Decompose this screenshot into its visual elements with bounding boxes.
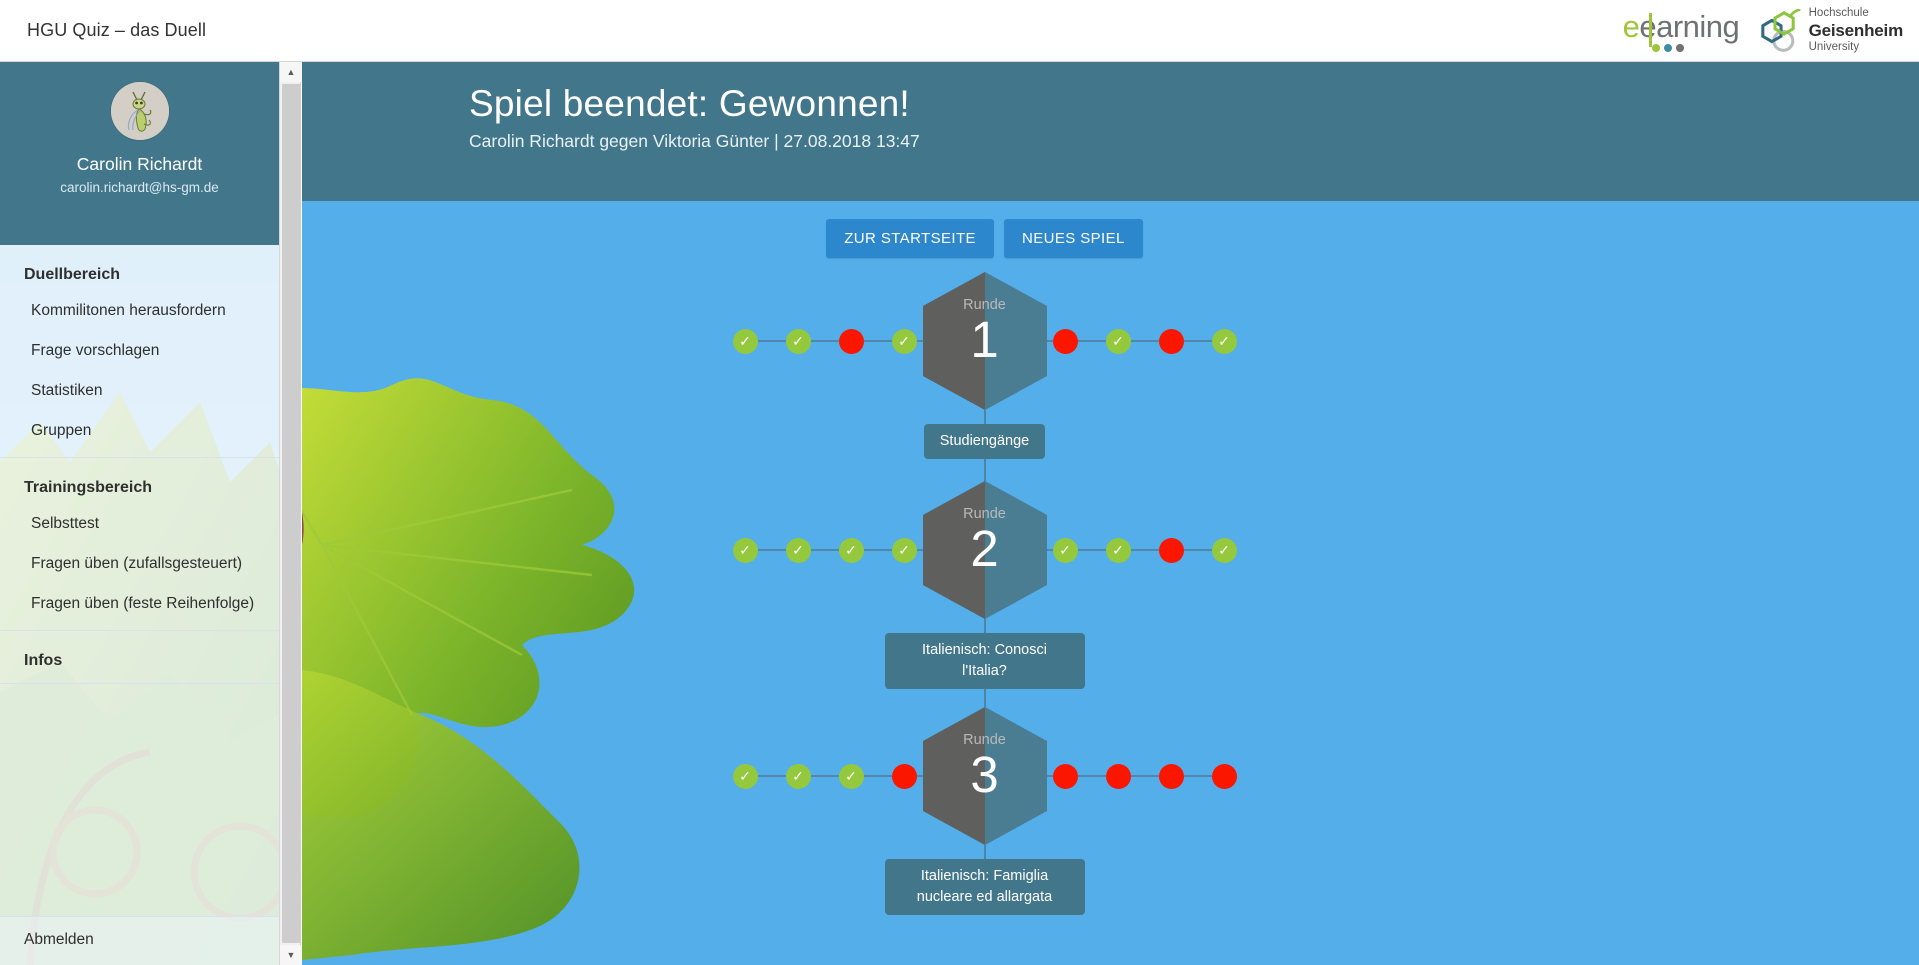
answer-correct-icon: ✓ — [1053, 538, 1078, 563]
page-subtitle: Carolin Richardt gegen Viktoria Günter |… — [469, 131, 1919, 152]
page-title: Spiel beendet: Gewonnen! — [469, 83, 1919, 125]
sidebar-item-frage-vorschlagen[interactable]: Frage vorschlagen — [0, 331, 279, 371]
round-row: ✓✓✓Runde3 — [733, 707, 1237, 845]
elearning-logo-text: earning — [1639, 9, 1739, 44]
zur-startseite-button[interactable]: ZUR STARTSEITE — [826, 219, 994, 258]
sidebar-item-fragen-üben-feste-reihenfolge[interactable]: Fragen üben (feste Reihenfolge) — [0, 584, 279, 624]
dot-connector — [1131, 775, 1159, 777]
dot-connector — [1078, 775, 1106, 777]
elearning-logo-bar — [1649, 13, 1652, 47]
round-hexagon: Runde3 — [923, 707, 1047, 845]
answer-correct-icon: ✓ — [733, 329, 758, 354]
dot-connector — [758, 549, 786, 551]
university-logo-line2: Geisenheim — [1809, 21, 1903, 41]
round-row: ✓✓✓✓Runde2✓✓✓ — [733, 481, 1237, 619]
answer-correct-icon: ✓ — [839, 764, 864, 789]
sidebar-section-infos: Infos — [0, 631, 279, 684]
round-topic: Italienisch: Conosci l'Italia? — [885, 633, 1085, 689]
action-buttons: ZUR STARTSEITENEUES SPIEL — [302, 219, 1919, 258]
dot-connector — [758, 775, 786, 777]
answer-correct-icon: ✓ — [786, 329, 811, 354]
logout-link[interactable]: Abmelden — [0, 917, 279, 965]
answer-correct-icon: ✓ — [892, 329, 917, 354]
dot-connector-stub — [1047, 775, 1053, 777]
round-block: ✓✓✓Runde1✓✓Studiengänge — [302, 272, 1667, 459]
top-bar: HGU Quiz – das Duell eearning Hochschule… — [0, 0, 1919, 62]
profile-email: carolin.richardt@hs-gm.de — [60, 180, 219, 195]
profile-name: Carolin Richardt — [77, 154, 202, 175]
geisenheim-mark-icon — [1755, 9, 1801, 53]
dot-connector — [811, 340, 839, 342]
sidebar-profile: Carolin Richardt carolin.richardt@hs-gm.… — [0, 62, 279, 245]
answer-correct-icon: ✓ — [786, 538, 811, 563]
round-row: ✓✓✓Runde1✓✓ — [733, 272, 1237, 410]
logo-group: eearning Hochschule Geisenheim Universit… — [1623, 6, 1903, 56]
dot-connector — [1131, 549, 1159, 551]
answer-wrong-icon — [1159, 538, 1184, 563]
dot-connector — [864, 549, 892, 551]
answer-correct-icon: ✓ — [786, 764, 811, 789]
dot-connector — [811, 549, 839, 551]
dot-connector — [811, 775, 839, 777]
answer-correct-icon: ✓ — [1212, 538, 1237, 563]
sidebar: Carolin Richardt carolin.richardt@hs-gm.… — [0, 62, 279, 965]
answer-wrong-icon — [1212, 764, 1237, 789]
page-header: Spiel beendet: Gewonnen! Carolin Richard… — [302, 62, 1919, 201]
answer-dots-right: ✓✓✓ — [1047, 538, 1237, 563]
avatar — [111, 82, 169, 140]
scroll-up-arrow-icon[interactable]: ▲ — [280, 62, 302, 82]
answer-correct-icon: ✓ — [1106, 329, 1131, 354]
answer-wrong-icon — [1106, 764, 1131, 789]
dot-connector — [1131, 340, 1159, 342]
topic-connector — [984, 410, 986, 424]
sidebar-item-gruppen[interactable]: Gruppen — [0, 411, 279, 451]
sidebar-item-selbsttest[interactable]: Selbsttest — [0, 504, 279, 544]
university-logo-line3: University — [1809, 41, 1903, 55]
answer-correct-icon: ✓ — [1212, 329, 1237, 354]
main-content: Spiel beendet: Gewonnen! Carolin Richard… — [302, 62, 1919, 965]
logout-container: Abmelden — [0, 916, 279, 965]
app-title: HGU Quiz – das Duell — [27, 20, 206, 41]
answer-dots-left: ✓✓✓ — [733, 764, 923, 789]
sidebar-item-statistiken[interactable]: Statistiken — [0, 371, 279, 411]
sidebar-section-title: Duellbereich — [0, 259, 279, 291]
elearning-logo: eearning — [1623, 9, 1741, 53]
dot-connector — [758, 340, 786, 342]
university-logo-line1: Hochschule — [1809, 7, 1903, 21]
sidebar-item-kommilitonen-herausfordern[interactable]: Kommilitonen herausfordern — [0, 291, 279, 331]
topic-connector — [984, 845, 986, 859]
answer-dots-left: ✓✓✓ — [733, 329, 923, 354]
answer-dots-right — [1047, 764, 1237, 789]
elearning-logo-dots — [1652, 44, 1684, 52]
dot-connector-stub — [1047, 340, 1053, 342]
scrollbar-thumb[interactable] — [282, 84, 300, 943]
answer-wrong-icon — [1159, 764, 1184, 789]
answer-wrong-icon — [1159, 329, 1184, 354]
answer-wrong-icon — [1053, 764, 1078, 789]
round-block: ✓✓✓Runde3Italienisch: Famiglia nucleare … — [302, 689, 1667, 915]
round-connector — [984, 689, 986, 707]
round-topic: Studiengänge — [924, 424, 1046, 459]
sidebar-section-duellbereich: DuellbereichKommilitonen herausfordernFr… — [0, 245, 279, 458]
answer-correct-icon: ✓ — [839, 538, 864, 563]
round-number: 1 — [923, 310, 1047, 370]
round-connector — [984, 459, 986, 481]
sidebar-section-title: Trainingsbereich — [0, 472, 279, 504]
answer-wrong-icon — [1053, 329, 1078, 354]
sidebar-scrollbar[interactable]: ▲ ▼ — [279, 62, 301, 965]
elearning-logo-e: e — [1623, 9, 1640, 44]
answer-correct-icon: ✓ — [733, 764, 758, 789]
round-topic: Italienisch: Famiglia nucleare ed allarg… — [885, 859, 1085, 915]
round-number: 3 — [923, 745, 1047, 805]
round-block: ✓✓✓✓Runde2✓✓✓Italienisch: Conosci l'Ital… — [302, 459, 1667, 689]
rounds-list: ✓✓✓Runde1✓✓Studiengänge✓✓✓✓Runde2✓✓✓Ital… — [302, 272, 1919, 915]
neues-spiel-button[interactable]: NEUES SPIEL — [1004, 219, 1143, 258]
dot-connector — [1078, 549, 1106, 551]
dot-connector — [864, 340, 892, 342]
answer-dots-right: ✓✓ — [1047, 329, 1237, 354]
answer-dots-left: ✓✓✓✓ — [733, 538, 923, 563]
sidebar-section-trainingsbereich: TrainingsbereichSelbsttestFragen üben (z… — [0, 458, 279, 631]
scroll-down-arrow-icon[interactable]: ▼ — [280, 945, 302, 965]
sidebar-item-fragen-üben-zufallsgesteuert[interactable]: Fragen üben (zufallsgesteuert) — [0, 544, 279, 584]
answer-correct-icon: ✓ — [892, 538, 917, 563]
dot-connector — [1184, 549, 1212, 551]
university-logo: Hochschule Geisenheim University — [1755, 7, 1903, 54]
grasshopper-avatar-icon — [111, 82, 169, 140]
sidebar-nav: DuellbereichKommilitonen herausfordernFr… — [0, 245, 279, 684]
round-hexagon: Runde1 — [923, 272, 1047, 410]
round-hexagon: Runde2 — [923, 481, 1047, 619]
dot-connector — [1184, 340, 1212, 342]
dot-connector — [1078, 340, 1106, 342]
sidebar-section-title: Infos — [0, 645, 279, 677]
answer-correct-icon: ✓ — [1106, 538, 1131, 563]
dot-connector — [1184, 775, 1212, 777]
dot-connector — [864, 775, 892, 777]
answer-correct-icon: ✓ — [733, 538, 758, 563]
answer-wrong-icon — [839, 329, 864, 354]
topic-connector — [984, 619, 986, 633]
round-number: 2 — [923, 519, 1047, 579]
dot-connector-stub — [1047, 549, 1053, 551]
answer-wrong-icon — [892, 764, 917, 789]
